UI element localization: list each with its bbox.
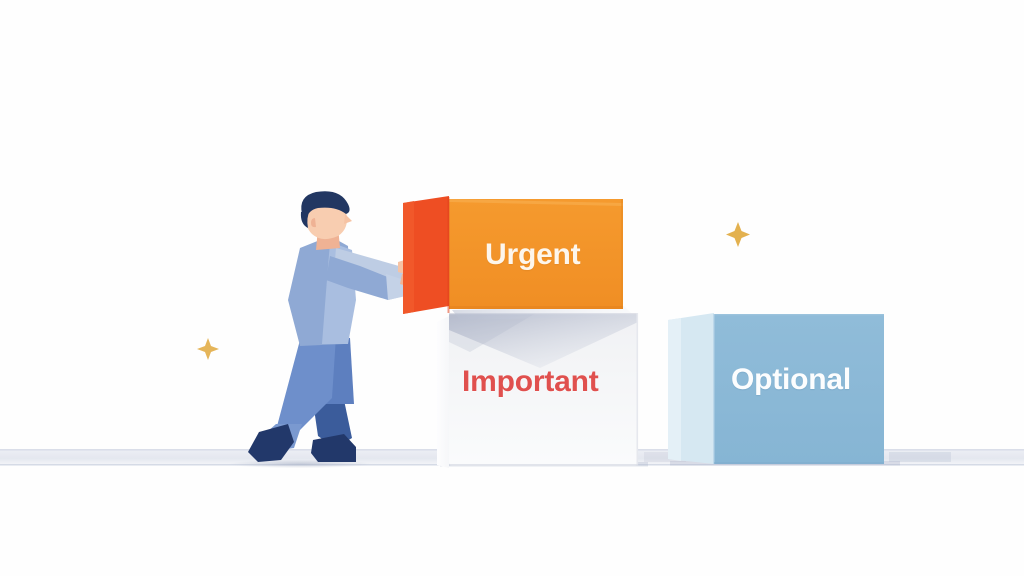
box-optional-front [714, 314, 884, 464]
scene-vector-art [0, 0, 1024, 576]
box-important-side [437, 316, 449, 468]
box-optional[interactable] [668, 313, 884, 464]
box-urgent-front [449, 199, 623, 309]
illustration-canvas: Urgent Important Optional [0, 0, 1024, 576]
box-urgent[interactable] [403, 196, 634, 320]
box-important[interactable] [437, 313, 638, 468]
